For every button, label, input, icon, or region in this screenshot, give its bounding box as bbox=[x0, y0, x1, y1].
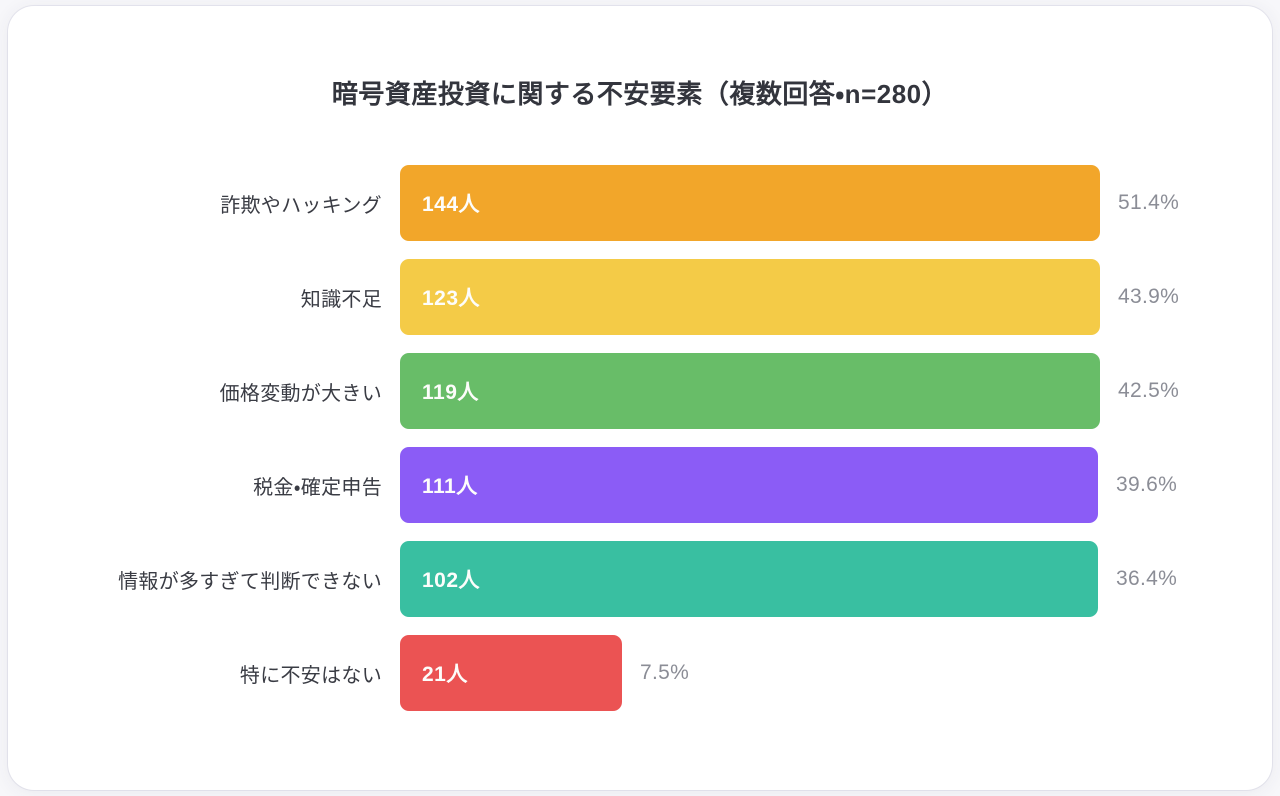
bar-percent-label: 36.4% bbox=[1116, 567, 1177, 591]
bar-track: 21人 7.5% bbox=[400, 635, 1272, 711]
category-label: 価格変動が大きい bbox=[8, 377, 400, 406]
bar-segment[interactable]: 21人 bbox=[400, 635, 622, 711]
chart-row: 情報が多すぎて判断できない 102人 36.4% bbox=[8, 532, 1272, 626]
bar-percent-label: 42.5% bbox=[1118, 379, 1179, 403]
chart-row: 税金・確定申告 111人 39.6% bbox=[8, 438, 1272, 532]
category-label: 詐欺やハッキング bbox=[8, 189, 400, 218]
bar-value-label: 111人 bbox=[422, 470, 478, 500]
category-label: 税金・確定申告 bbox=[8, 471, 400, 500]
bar-segment[interactable]: 111人 bbox=[400, 447, 1098, 523]
bar-track: 144人 51.4% bbox=[400, 165, 1272, 241]
page-title: 暗号資産投資に関する不安要素（複数回答・n=280） bbox=[8, 74, 1272, 111]
bar-segment[interactable]: 123人 bbox=[400, 259, 1100, 335]
bar-value-label: 21人 bbox=[422, 658, 468, 688]
bar-percent-label: 51.4% bbox=[1118, 191, 1179, 215]
chart-row: 知識不足 123人 43.9% bbox=[8, 250, 1272, 344]
bar-track: 111人 39.6% bbox=[400, 447, 1272, 523]
bar-value-label: 144人 bbox=[422, 188, 480, 218]
chart-card: 暗号資産投資に関する不安要素（複数回答・n=280） 詐欺やハッキング 144人… bbox=[8, 6, 1272, 790]
category-label: 情報が多すぎて判断できない bbox=[8, 565, 400, 594]
bar-percent-label: 39.6% bbox=[1116, 473, 1177, 497]
bar-segment[interactable]: 102人 bbox=[400, 541, 1098, 617]
category-label: 知識不足 bbox=[8, 283, 400, 312]
bar-value-label: 123人 bbox=[422, 282, 480, 312]
chart-row: 特に不安はない 21人 7.5% bbox=[8, 626, 1272, 720]
bar-percent-label: 7.5% bbox=[640, 661, 689, 685]
chart-row: 価格変動が大きい 119人 42.5% bbox=[8, 344, 1272, 438]
bar-segment[interactable]: 119人 bbox=[400, 353, 1100, 429]
category-label: 特に不安はない bbox=[8, 659, 400, 688]
bar-segment[interactable]: 144人 bbox=[400, 165, 1100, 241]
bar-chart-plot-area: 詐欺やハッキング 144人 51.4% 知識不足 123人 43.9% 価格変動… bbox=[8, 156, 1272, 720]
bar-value-label: 102人 bbox=[422, 564, 480, 594]
bar-track: 119人 42.5% bbox=[400, 353, 1272, 429]
bar-track: 123人 43.9% bbox=[400, 259, 1272, 335]
bar-value-label: 119人 bbox=[422, 376, 479, 406]
chart-row: 詐欺やハッキング 144人 51.4% bbox=[8, 156, 1272, 250]
bar-track: 102人 36.4% bbox=[400, 541, 1272, 617]
bar-percent-label: 43.9% bbox=[1118, 285, 1179, 309]
